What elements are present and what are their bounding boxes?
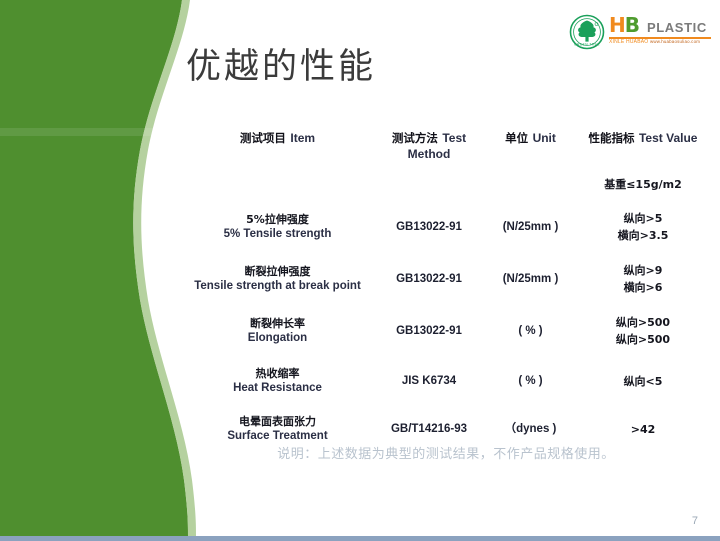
specification-table: 测试项目 Item 测试方法 Test Method 单位 Unit 性能指标 …	[186, 130, 714, 453]
page-number: 7	[692, 515, 698, 527]
page-title: 优越的性能	[186, 38, 376, 89]
cell-empty-method	[369, 168, 489, 201]
logo-wordmark: PLASTIC	[647, 20, 707, 35]
logo-subtitle: XINLE HUABAO www.huabaosuliao.com	[609, 39, 719, 45]
cell-item: 热收缩率 Heat Resistance	[186, 357, 369, 405]
logo-hb-mark: HB	[609, 15, 639, 35]
column-header-method: 测试方法 Test Method	[369, 130, 489, 168]
cell-test-value: 纵向>500 纵向>500	[572, 305, 714, 357]
logo-letter-b: B	[625, 13, 639, 37]
green-tree-seal-icon: GREEN TREE	[569, 14, 605, 50]
brand-logo: GREEN TREE HB PLASTIC XINLE HUABAO www.h…	[569, 12, 714, 56]
cell-method: GB13022-91	[369, 305, 489, 357]
cell-test-value: 纵向<5	[572, 357, 714, 405]
specification-table-container: 测试项目 Item 测试方法 Test Method 单位 Unit 性能指标 …	[186, 130, 714, 410]
logo-letter-h: H	[609, 13, 625, 37]
table-row: 断裂伸长率 Elongation GB13022-91 ( % ) 纵向>500…	[186, 305, 714, 357]
table-row: 基重≤15g/m2	[186, 168, 714, 201]
table-row: 热收缩率 Heat Resistance JIS K6734 ( % ) 纵向<…	[186, 357, 714, 405]
cell-item: 断裂伸长率 Elongation	[186, 305, 369, 357]
cell-method: JIS K6734	[369, 357, 489, 405]
table-row: 断裂拉伸强度 Tensile strength at break point G…	[186, 253, 714, 305]
footer-accent-bar	[0, 536, 720, 541]
cell-item: 断裂拉伸强度 Tensile strength at break point	[186, 253, 369, 305]
table-header-row: 测试项目 Item 测试方法 Test Method 单位 Unit 性能指标 …	[186, 130, 714, 168]
disclaimer-note: 说明：上述数据为典型的测试结果，不作产品规格使用。	[186, 443, 706, 462]
cell-unit: (N/25mm )	[489, 201, 572, 253]
column-header-item: 测试项目 Item	[186, 130, 369, 168]
cell-method: GB13022-91	[369, 201, 489, 253]
svg-text:GREEN TREE: GREEN TREE	[574, 43, 600, 47]
cell-empty-unit	[489, 168, 572, 201]
cell-test-value: 纵向>9 横向>6	[572, 253, 714, 305]
cell-item: 5%拉伸强度 5% Tensile strength	[186, 201, 369, 253]
slide-canvas: GREEN TREE HB PLASTIC XINLE HUABAO www.h…	[0, 0, 720, 541]
column-header-unit: 单位 Unit	[489, 130, 572, 168]
logo-website: www.huabaosuliao.com	[650, 39, 700, 44]
table-row: 5%拉伸强度 5% Tensile strength GB13022-91 (N…	[186, 201, 714, 253]
cell-unit: ( % )	[489, 305, 572, 357]
cell-unit: ( % )	[489, 357, 572, 405]
cell-empty-item	[186, 168, 369, 201]
cell-basis-weight: 基重≤15g/m2	[572, 168, 714, 201]
cell-test-value: 纵向>5 横向>3.5	[572, 201, 714, 253]
column-header-test-value: 性能指标 Test Value	[572, 130, 714, 168]
cell-unit: (N/25mm )	[489, 253, 572, 305]
cell-method: GB13022-91	[369, 253, 489, 305]
logo-company-name: XINLE HUABAO	[609, 39, 648, 45]
